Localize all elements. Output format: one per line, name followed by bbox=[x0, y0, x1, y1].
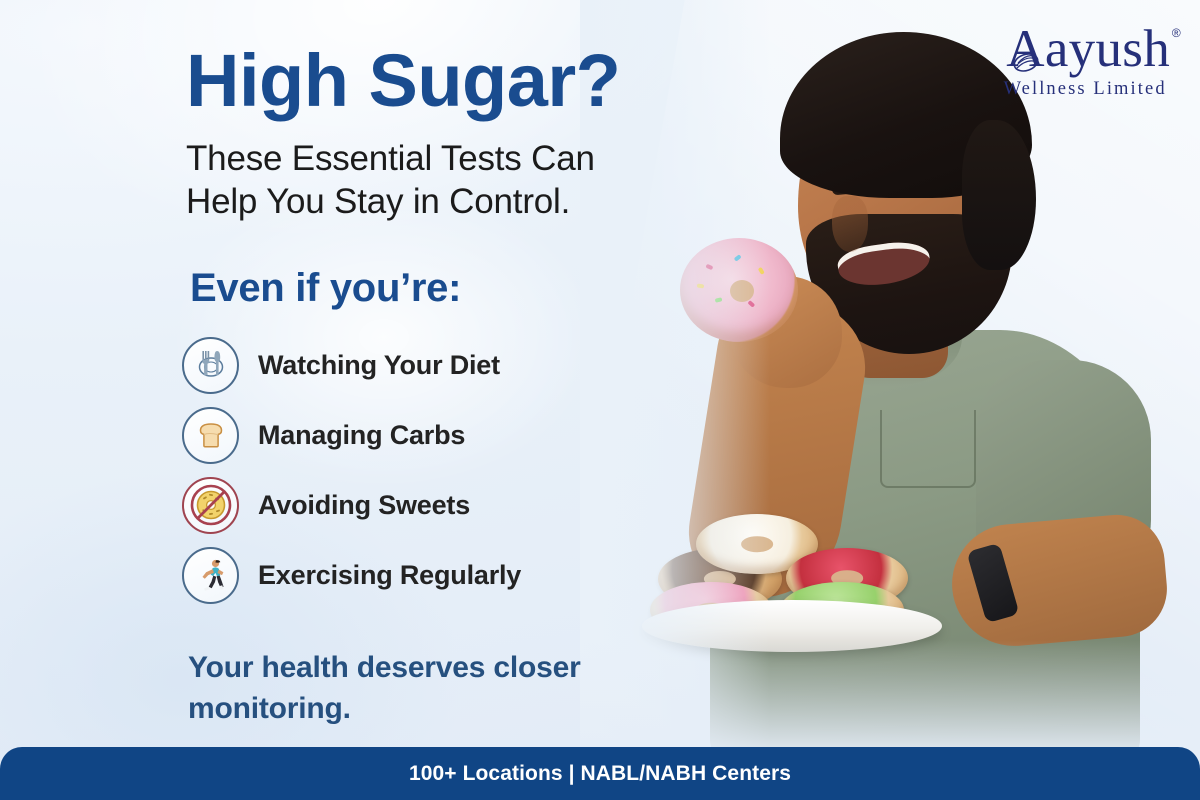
photo-nose bbox=[832, 196, 868, 252]
even-if-label: Even if you’re: bbox=[190, 266, 461, 311]
closing-line-2: monitoring. bbox=[188, 689, 581, 730]
photo-donut-glazed bbox=[696, 514, 818, 574]
brand-logo[interactable]: Aayush ® Wellness Limited bbox=[1000, 24, 1170, 100]
bread-slice-icon bbox=[182, 407, 239, 464]
no-donut-prohibited-icon bbox=[182, 477, 239, 534]
photo-lower-arm bbox=[947, 511, 1171, 651]
list-item-label: Managing Carbs bbox=[258, 420, 465, 451]
habit-list: Watching Your Diet Managing Carbs bbox=[182, 337, 521, 617]
closing-line-1: Your health deserves closer bbox=[188, 648, 581, 689]
photo-eye-left bbox=[832, 180, 887, 196]
list-item-label: Watching Your Diet bbox=[258, 350, 500, 381]
footer-bar: 100+ Locations | NABL/NABH Centers bbox=[0, 747, 1200, 800]
photo-raised-arm bbox=[679, 290, 874, 610]
list-item-exercising-regularly: Exercising Regularly bbox=[182, 547, 521, 603]
photo-shirt-pocket bbox=[880, 410, 976, 488]
registered-trademark-icon: ® bbox=[1172, 28, 1181, 40]
list-item-watching-your-diet: Watching Your Diet bbox=[182, 337, 521, 393]
footer-locations-text: 100+ Locations | NABL/NABH Centers bbox=[409, 762, 791, 786]
list-item-managing-carbs: Managing Carbs bbox=[182, 407, 521, 463]
subheading: These Essential Tests Can Help You Stay … bbox=[186, 137, 595, 224]
page-title-headline: High Sugar? bbox=[186, 44, 620, 118]
content-column: High Sugar? These Essential Tests Can He… bbox=[0, 0, 700, 800]
photo-head bbox=[798, 56, 1016, 324]
photo-donut-strawberry bbox=[786, 548, 908, 608]
photo-wristwatch bbox=[966, 543, 1019, 624]
photo-sleeve bbox=[976, 360, 1151, 590]
photo-hair bbox=[780, 32, 1032, 198]
plate-fork-knife-icon bbox=[182, 337, 239, 394]
closing-statement: Your health deserves closer monitoring. bbox=[188, 648, 581, 730]
running-person-icon bbox=[182, 547, 239, 604]
photo-raised-hand bbox=[730, 276, 842, 388]
photo-eyebrow-right bbox=[910, 154, 973, 169]
subheading-line-1: These Essential Tests Can bbox=[186, 137, 595, 180]
photo-beard bbox=[806, 214, 1012, 354]
photo-shirt bbox=[710, 330, 1140, 760]
photo-eye-right bbox=[916, 178, 968, 191]
poster-canvas: Aayush ® Wellness Limited High Sugar? Th… bbox=[0, 0, 1200, 800]
photo-hair-side bbox=[962, 120, 1036, 270]
photo-neck bbox=[844, 258, 948, 378]
subheading-line-2: Help You Stay in Control. bbox=[186, 180, 595, 223]
photo-collar bbox=[812, 320, 962, 386]
brand-logo-wordmark: Aayush ® bbox=[1000, 24, 1170, 76]
brand-logo-name: Aayush bbox=[1006, 20, 1170, 78]
photo-eyebrow-left bbox=[826, 156, 893, 176]
photo-mouth bbox=[836, 238, 933, 290]
photo-ear bbox=[994, 168, 1028, 220]
list-item-avoiding-sweets: Avoiding Sweets bbox=[182, 477, 521, 533]
brand-logo-tagline: Wellness Limited bbox=[1000, 79, 1170, 100]
list-item-label: Avoiding Sweets bbox=[258, 490, 470, 521]
list-item-label: Exercising Regularly bbox=[258, 560, 521, 591]
photo-donut-green bbox=[780, 582, 904, 638]
